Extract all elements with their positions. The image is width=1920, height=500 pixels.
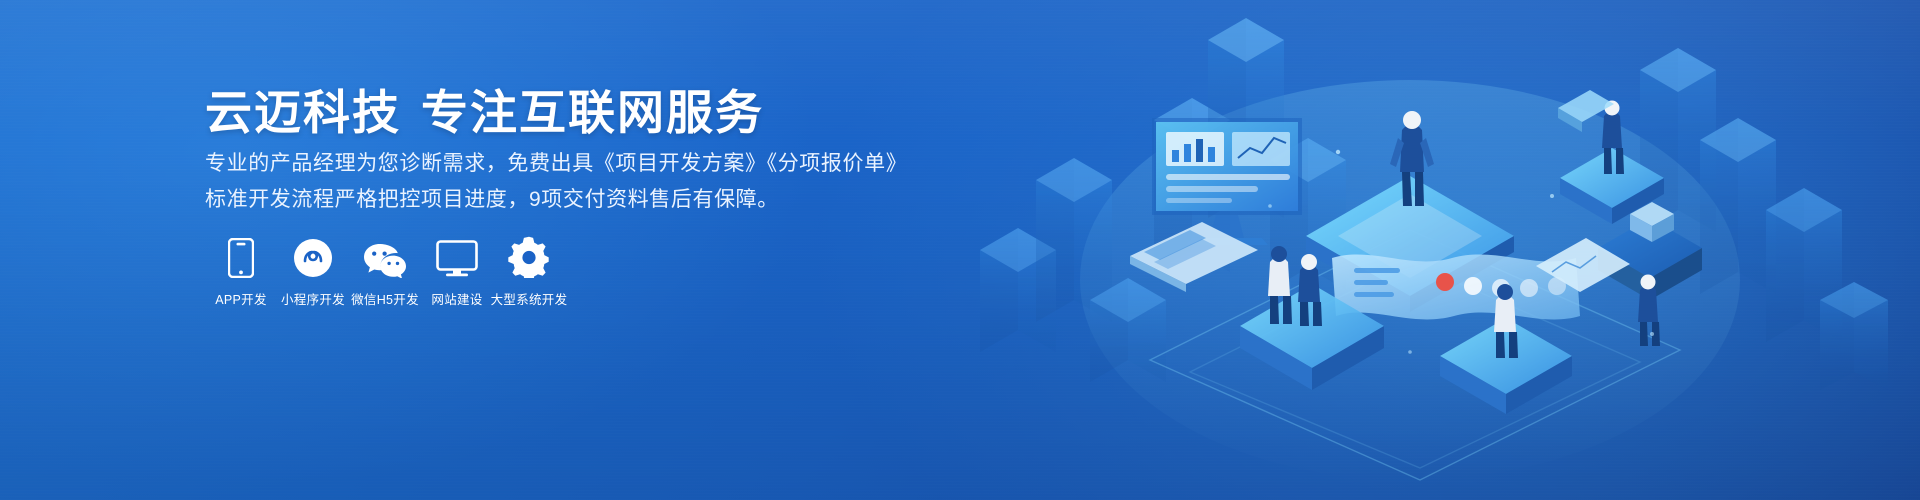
mobile-phone-icon [228,232,254,278]
wechat-icon [362,232,408,278]
service-item-wechat[interactable]: 微信H5开发 [349,232,421,308]
mini-program-icon [293,232,333,278]
service-item-website[interactable]: 网站建设 [421,232,493,308]
service-label: 微信H5开发 [351,289,419,308]
gear-icon [508,232,550,278]
service-label: 小程序开发 [281,289,345,308]
illustration-container [940,0,1920,500]
service-item-system[interactable]: 大型系统开发 [493,232,565,308]
service-icon-list: APP开发 小程序开发 [205,232,565,308]
subtitle-block: 专业的产品经理为您诊断需求，免费出具《项目开发方案》《分项报价单》 标准开发流程… [205,146,925,218]
subtitle-line-1: 专业的产品经理为您诊断需求，免费出具《项目开发方案》《分项报价单》 [205,146,925,182]
subtitle-line-2: 标准开发流程严格把控项目进度，9项交付资料售后有保障。 [205,182,925,218]
service-label: 网站建设 [431,289,482,308]
service-item-miniprogram[interactable]: 小程序开发 [277,232,349,308]
page-title: 云迈科技专注互联网服务 [205,74,764,143]
banner-content: 云迈科技专注互联网服务 专业的产品经理为您诊断需求，免费出具《项目开发方案》《分… [205,0,965,500]
service-label: 大型系统开发 [491,289,568,308]
headline-tagline: 专注互联网服务 [421,86,764,139]
service-item-app[interactable]: APP开发 [205,232,277,308]
monitor-icon [436,232,478,278]
hero-banner: 云迈科技专注互联网服务 专业的产品经理为您诊断需求，免费出具《项目开发方案》《分… [0,0,1920,500]
isometric-illustration [940,0,1920,500]
service-label: APP开发 [215,289,267,308]
headline-brand: 云迈科技 [205,86,401,139]
